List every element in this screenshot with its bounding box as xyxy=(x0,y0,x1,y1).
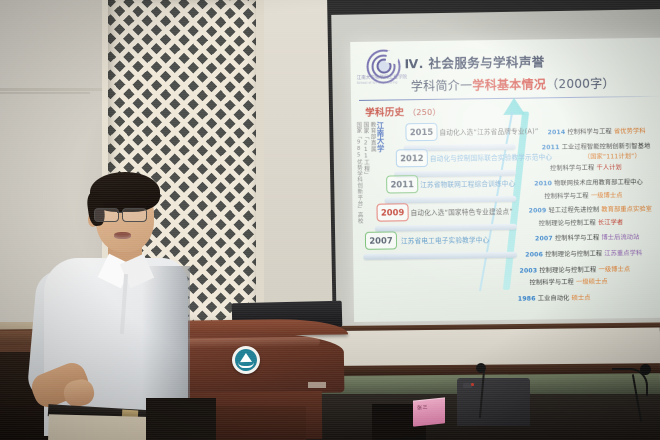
achievement-item: （国家“111计划”） xyxy=(584,151,641,161)
section-label: 学科历史 （250） xyxy=(365,104,441,119)
achievement-item: 控制理论与控制工程 长江学者 xyxy=(539,217,624,227)
achievement-discipline: 控制理论与控制工程 xyxy=(539,267,596,275)
wall-seam-secondary xyxy=(0,92,90,94)
name-card xyxy=(413,398,445,426)
timeline-event: 自动化入选“国家特色专业建设点” xyxy=(411,206,513,217)
achievement-year: 2006 xyxy=(525,251,543,258)
achievement-discipline: 轻工过程先进控制 xyxy=(548,207,599,215)
achievement-award: 一级硕士点 xyxy=(576,278,608,285)
timeline-bar xyxy=(375,224,517,232)
achievement-year: 2011 xyxy=(542,144,560,151)
speaker-glasses xyxy=(94,208,154,220)
desk-microphone-head-1 xyxy=(476,363,486,373)
achievement-discipline: 物联网技术应用教育部工程中心 xyxy=(554,179,643,187)
laptop-logo-dot xyxy=(471,383,474,386)
achievement-item: 2003 控制理论与控制工程 一级博士点 xyxy=(519,264,630,275)
foreground-chair-left xyxy=(146,398,216,440)
achievement-discipline: 控制科学与工程 xyxy=(530,279,574,287)
wall-column-right xyxy=(264,0,334,332)
slide-subtitle: 学科简介一学科基本情况（2000字） xyxy=(411,74,615,94)
timeline-bar xyxy=(363,252,517,260)
achievement-discipline: 控制科学与工程 xyxy=(555,235,599,243)
achievement-item: 2011 工业过程智能控制创新引智基地 xyxy=(542,141,651,152)
achievement-item: 控制科学与工程 一级博士点 xyxy=(544,190,622,200)
achievement-year: 2010 xyxy=(534,180,552,187)
achievement-discipline: 控制理论与控制工程 xyxy=(545,251,602,259)
achievement-discipline: 工业过程智能控制创新引智基地 xyxy=(562,143,651,151)
timeline-event: 自动化与控制国际联合实验教学示范中心 xyxy=(430,151,552,163)
timeline-event: 自动化入选“江苏省品牌专业(A)” xyxy=(439,125,538,136)
subtitle-prefix: 学科简介一 xyxy=(411,78,473,93)
speaker-mouth xyxy=(114,232,131,239)
achievement-award: 千人计划 xyxy=(596,164,621,171)
vertical-text-platform: 国家「985优势学科创新平台」高校 xyxy=(354,122,363,224)
logo-caption-english: School of IoT Engineering xyxy=(357,80,398,85)
section-label-text: 学科历史 xyxy=(365,107,404,119)
achievement-item: 控制科学与工程 千人计划 xyxy=(550,162,622,172)
podium-plate xyxy=(308,382,326,388)
timeline-year: 2015 xyxy=(405,123,437,141)
achievement-item: 2010 物联网技术应用教育部工程中心 xyxy=(534,177,643,188)
name-card-text: 张三 xyxy=(417,403,428,411)
achievement-discipline: 控制科学与工程 xyxy=(544,193,588,201)
achievement-item: 2007 控制科学与工程 博士后流动站 xyxy=(535,232,640,242)
timeline-year: 2009 xyxy=(376,203,408,221)
achievement-item: 2014 控制科学与工程 省优势学科 xyxy=(547,126,645,136)
timeline-event: 江苏省电工电子实验教学中心 xyxy=(401,234,489,245)
screenshot-root: 江南大学物联网工程学院 School of IoT Engineering Ⅳ.… xyxy=(0,0,660,440)
achievement-year: 2003 xyxy=(519,267,537,274)
achievement-award: 一级博士点 xyxy=(599,266,631,273)
presentation-slide: 江南大学物联网工程学院 School of IoT Engineering Ⅳ.… xyxy=(350,38,660,322)
achievement-year: 1986 xyxy=(518,295,536,302)
timeline-year: 2012 xyxy=(396,149,428,167)
achievement-award: 博士后流动站 xyxy=(601,234,639,242)
achievement-item: 2009 轻工过程先进控制 教育部重点实验室 xyxy=(529,204,653,215)
achievement-award: （国家“111计划”） xyxy=(584,153,641,161)
vertical-text-university: 江南大学 xyxy=(375,122,385,153)
achievement-discipline: 控制科学与工程 xyxy=(567,128,611,136)
timeline-event: 江苏省物联网工程综合训练中心 xyxy=(420,178,515,189)
subtitle-highlight: 学科基本情况 xyxy=(472,77,546,92)
achievement-year: 2009 xyxy=(529,207,547,214)
achievement-award: 江苏重点学科 xyxy=(604,250,642,258)
achievement-discipline: 工业自动化 xyxy=(538,295,570,302)
achievement-item: 2006 控制理论与控制工程 江苏重点学科 xyxy=(525,248,642,259)
projection-screen: 江南大学物联网工程学院 School of IoT Engineering Ⅳ.… xyxy=(331,9,660,333)
achievement-award: 省优势学科 xyxy=(614,128,646,135)
achievement-award: 教育部重点实验室 xyxy=(601,206,652,214)
slide-title: Ⅳ. 社会服务与学科声誉 xyxy=(404,51,544,72)
timeline-year: 2011 xyxy=(386,175,418,193)
achievement-discipline: 控制科学与工程 xyxy=(550,165,594,173)
wall-seam xyxy=(0,88,106,91)
achievement-item: 控制科学与工程 一级硕士点 xyxy=(530,276,608,286)
achievement-year: 2007 xyxy=(535,235,553,242)
desk-microphone-head-2 xyxy=(640,364,651,375)
achievement-discipline: 控制理论与控制工程 xyxy=(539,220,596,228)
achievement-year: 2014 xyxy=(547,129,565,136)
achievement-award: 长江学者 xyxy=(598,219,623,226)
timeline-year: 2007 xyxy=(365,231,397,249)
achievement-award: 一级博士点 xyxy=(591,192,623,199)
achievement-award: 硕士点 xyxy=(572,295,591,302)
achievement-item: 1986 工业自动化 硕士点 xyxy=(518,293,591,303)
section-label-count: （250） xyxy=(408,108,441,117)
subtitle-suffix: （2000字） xyxy=(546,76,615,91)
